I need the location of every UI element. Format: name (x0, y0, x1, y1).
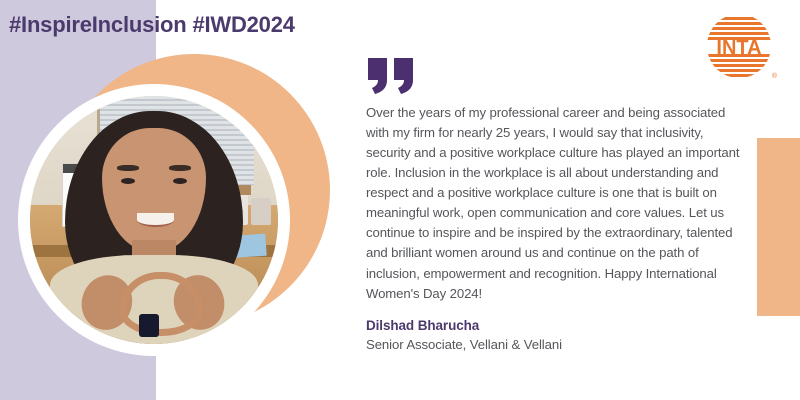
attribution: Dilshad Bharucha Senior Associate, Vella… (366, 318, 748, 352)
photo-smile (137, 213, 174, 227)
author-name: Dilshad Bharucha (366, 318, 748, 333)
right-orange-accent-bar (757, 138, 800, 316)
iwd2024-quote-card: #InspireInclusion #IWD2024 INTA (0, 0, 800, 400)
quotation-mark-icon (366, 58, 418, 94)
inta-logo-text: INTA (716, 37, 761, 59)
portrait-cluster (0, 40, 330, 380)
photo-jar-right (251, 198, 271, 225)
quote-text: Over the years of my professional career… (366, 103, 748, 304)
photo-id-badge (139, 314, 159, 336)
portrait-photo (30, 96, 278, 344)
quote-block: Over the years of my professional career… (366, 58, 748, 304)
registered-trademark-icon: ® (772, 73, 777, 80)
author-role: Senior Associate, Vellani & Vellani (366, 337, 748, 352)
hashtag-headline: #InspireInclusion #IWD2024 (9, 12, 295, 38)
